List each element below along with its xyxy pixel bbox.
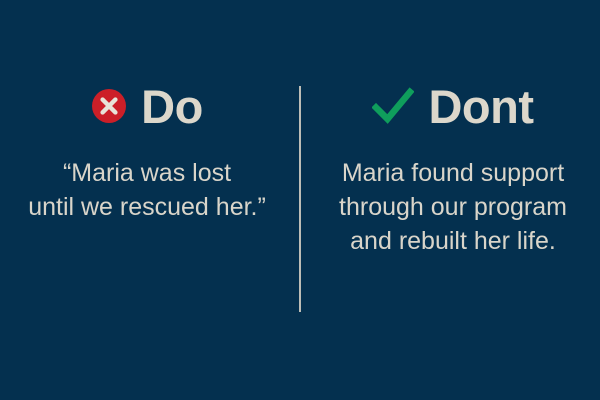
x-circle-icon	[91, 88, 127, 124]
column-heading-label-do: Do	[141, 83, 203, 130]
column-divider	[299, 86, 301, 312]
column-heading-label-dont: Dont	[428, 83, 533, 130]
column-heading-do: Do	[91, 78, 203, 134]
column-body-text-do: “Maria was lost until we rescued her.”	[28, 156, 266, 224]
column-body-text-dont: Maria found support through our program …	[339, 156, 567, 258]
comparison-column-dont: Dont Maria found support through our pro…	[300, 78, 600, 258]
comparison-graphic: Do “Maria was lost until we rescued her.…	[0, 0, 600, 400]
comparison-column-do: Do “Maria was lost until we rescued her.…	[0, 78, 300, 224]
check-icon	[372, 87, 414, 125]
column-heading-dont: Dont	[372, 78, 533, 134]
